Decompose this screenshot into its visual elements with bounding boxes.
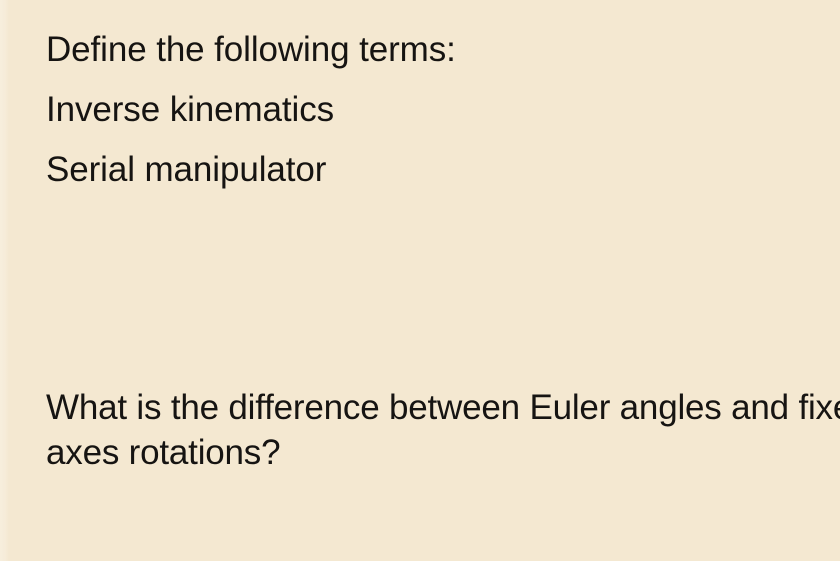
terms-section: Define the following terms: Inverse kine…: [46, 20, 840, 200]
document-content: Define the following terms: Inverse kine…: [0, 0, 840, 561]
term-item-serial-manipulator: Serial manipulator: [46, 140, 840, 200]
question-section: What is the difference between Euler ang…: [46, 385, 840, 475]
question-line-1: What is the difference between Euler ang…: [46, 385, 840, 430]
terms-prompt: Define the following terms:: [46, 20, 840, 80]
document-page: Define the following terms: Inverse kine…: [0, 0, 840, 561]
term-item-inverse-kinematics: Inverse kinematics: [46, 80, 840, 140]
question-line-2: axes rotations?: [46, 430, 840, 475]
